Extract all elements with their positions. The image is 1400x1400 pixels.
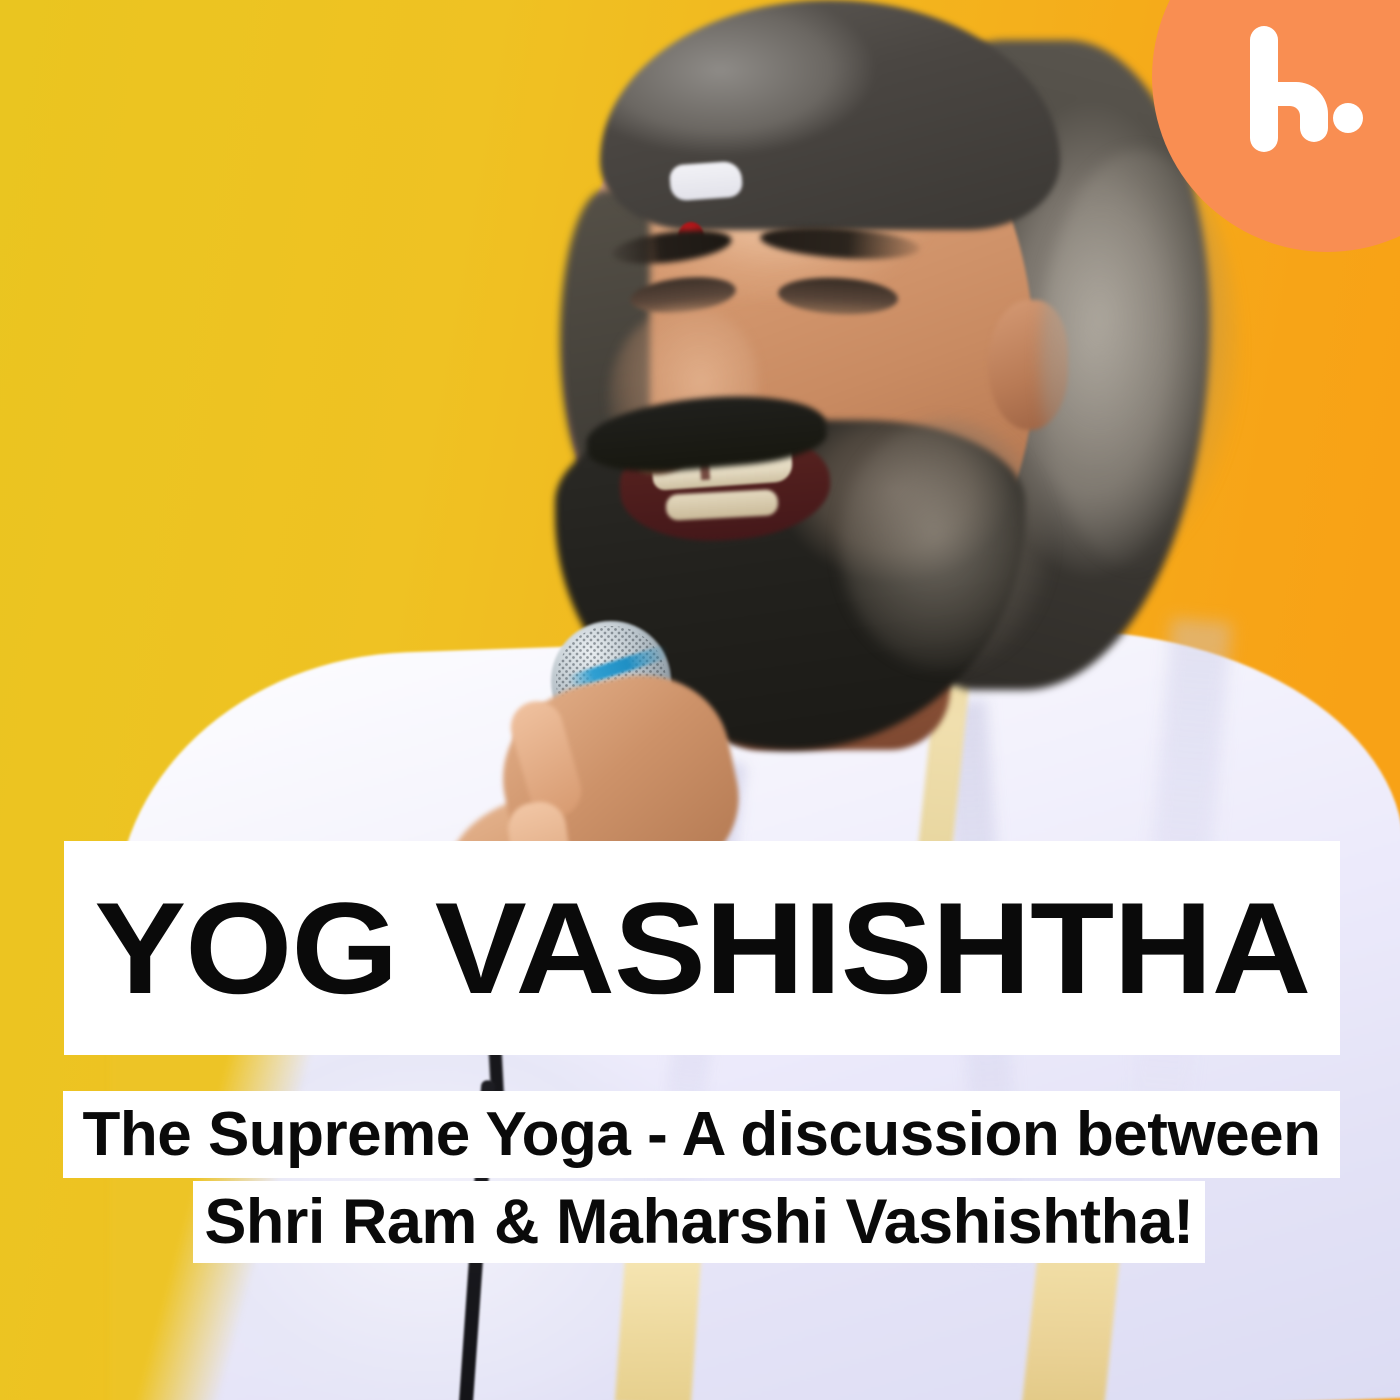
gold-shawl-strip — [615, 1253, 701, 1400]
subtitle-line-1-text: The Supreme Yoga - A discussion between — [83, 1104, 1321, 1166]
page-title: YOG VASHISHTHA — [94, 883, 1310, 1013]
hair-wisps — [1040, 150, 1240, 570]
title-banner: YOG VASHISHTHA — [64, 841, 1340, 1055]
subtitle-line-2-text: Shri Ram & Maharshi Vashishtha! — [204, 1191, 1193, 1254]
subtitle-banner-line-1: The Supreme Yoga - A discussion between — [63, 1091, 1340, 1178]
gold-shawl-trim-lower — [1022, 1246, 1120, 1400]
h-dot-logo-icon — [1236, 26, 1364, 156]
poster-canvas: YOG VASHISHTHA The Supreme Yoga - A disc… — [0, 0, 1400, 1400]
subtitle-banner-line-2: Shri Ram & Maharshi Vashishtha! — [193, 1181, 1205, 1263]
beard-grey-highlight — [840, 420, 1050, 670]
hair-top — [600, 0, 1060, 230]
tilak-mark — [669, 161, 743, 202]
